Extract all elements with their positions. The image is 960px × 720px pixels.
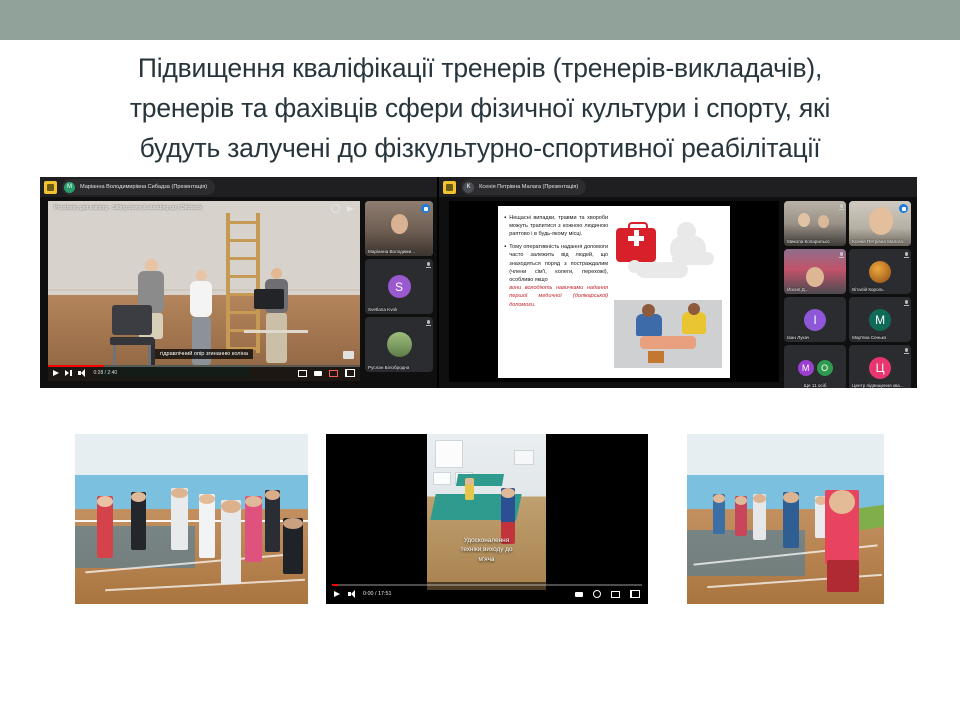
youtube-caption-text: гідравлічний опір згинанню коліна — [155, 349, 253, 359]
participant-overflow-tile[interactable]: M O Ще 11 осіб — [784, 345, 846, 388]
microphone-muted-icon — [904, 348, 908, 354]
page-title-line-3: будуть залучені до фізкультурно-спортивн… — [48, 128, 912, 168]
page-title-line-2: тренерів та фахівців сфери фізичної куль… — [48, 88, 912, 128]
photo-player-head — [221, 500, 241, 513]
participant-face — [869, 207, 893, 235]
vc-right-topbar: K Ксенія Петрівна Малага (Презентація) — [439, 177, 917, 197]
overflow-avatars: M O — [798, 360, 833, 376]
overflow-avatar-2: O — [817, 360, 833, 376]
captions-icon[interactable] — [314, 371, 322, 376]
participant-initial-avatar: І — [804, 309, 826, 331]
slide-text-column: ▪ Нещасні випадки, травми та хвороби мож… — [504, 214, 608, 309]
video-caption-line-1: Удосконалення — [427, 536, 546, 546]
rescuer-blue-figure — [636, 314, 662, 336]
youtube-right-controls[interactable] — [298, 369, 355, 377]
video-right-controls[interactable] — [575, 590, 640, 598]
shared-slide-page: ▪ Нещасні випадки, травми та хвороби мож… — [498, 206, 730, 378]
miniplayer-icon[interactable] — [329, 370, 338, 377]
microphone-muted-icon — [426, 262, 430, 268]
youtube-watermark-icon — [343, 351, 354, 359]
photo-player — [735, 496, 747, 536]
photo-player-head — [783, 492, 799, 503]
photo-player-head — [713, 494, 725, 503]
video-caption-line-2: техніки виходу до — [427, 545, 546, 555]
video-caption: Удосконалення техніки виходу до м'яча — [427, 536, 546, 565]
vc-right-presenter-chip: K Ксенія Петрівна Малага (Презентація) — [461, 179, 586, 195]
autoplay-icon[interactable] — [298, 370, 307, 377]
slide-bullet-text: Нещасні випадки, травми та хвороби можут… — [509, 214, 608, 239]
photo-player — [97, 496, 113, 558]
participant-name: Svetlana Kvok — [368, 307, 397, 312]
photo-player — [753, 494, 766, 540]
video-conference-screenshot: M Маріанна Володимирівна Сибадза (Презен… — [40, 177, 917, 388]
photo-player — [199, 494, 215, 558]
participant-tile[interactable]: Йосип Д... — [784, 249, 846, 294]
table-tennis-video-player[interactable]: Удосконалення техніки виходу до м'яча 0:… — [326, 434, 648, 604]
video-progress-bar[interactable] — [332, 584, 642, 586]
participant-tile[interactable]: Віталій Король — [849, 249, 911, 294]
video-laptop — [254, 289, 284, 309]
participant-face — [798, 213, 810, 227]
participant-name: Микола Копарильос — [787, 239, 830, 244]
microphone-muted-icon — [839, 252, 843, 258]
participant-initial-avatar: S — [388, 275, 411, 298]
volume-icon[interactable] — [348, 590, 355, 598]
photo-player — [265, 490, 280, 552]
video-person-assistant — [263, 268, 289, 363]
participant-name: Віталій Король — [852, 287, 884, 292]
bullet-dot-icon: ▪ — [504, 214, 506, 239]
photo-player-head — [97, 496, 113, 507]
photo-player — [783, 492, 799, 548]
presentation-app-icon — [44, 181, 57, 194]
youtube-timestamp: 0:28 / 2:40 — [94, 370, 118, 376]
participant-name: Йосип Д... — [787, 287, 808, 292]
photo-player-head — [753, 494, 766, 503]
youtube-progress-bar[interactable] — [48, 365, 360, 367]
presenter-avatar: M — [64, 182, 75, 193]
microphone-muted-icon — [426, 320, 430, 326]
participant-initial-avatar: M — [869, 309, 891, 331]
rescue-kit-box — [648, 351, 664, 363]
participant-face — [391, 214, 408, 234]
slide-bullet: ▪ Нещасні випадки, травми та хвороби мож… — [504, 214, 608, 239]
photo-player — [713, 494, 725, 534]
photo-player — [283, 518, 303, 574]
volleyball-gym-photo — [75, 434, 308, 604]
rescuer-blue-head — [642, 304, 655, 317]
participant-name: Центр підвищення ква... — [852, 383, 904, 388]
first-aid-kit-handle-icon — [628, 222, 648, 231]
photo-player-head — [245, 496, 262, 507]
gym-window — [433, 472, 451, 485]
video-left-controls[interactable]: 0:00 / 17:51 — [334, 590, 391, 598]
basketball-hoop-icon — [514, 450, 534, 465]
presenter-avatar: K — [463, 182, 474, 193]
captions-icon[interactable] — [575, 592, 583, 597]
microphone-muted-icon — [839, 204, 843, 210]
participant-overflow-label: Ще 11 осіб — [804, 383, 827, 388]
participant-tile[interactable]: Маріанна Володими... — [365, 201, 433, 256]
slide-bullet-text-wrap: Тому оперативність надання допомоги част… — [509, 243, 608, 309]
presenter-name: Маріанна Володимирівна Сибадза (Презента… — [80, 184, 207, 190]
participant-name: Маріанна Володими... — [368, 249, 415, 254]
page-title-line-1: Підвищення кваліфікації тренерів (тренер… — [48, 48, 912, 88]
photo-player-head — [199, 494, 215, 504]
fullscreen-icon[interactable] — [345, 369, 355, 377]
photo-player-head — [171, 488, 188, 498]
participant-initial-avatar: Ц — [869, 357, 891, 379]
participant-name: Іван Лукач — [787, 335, 809, 340]
first-aid-kit-icon — [616, 228, 656, 262]
participant-tile[interactable]: S Svetlana Kvok — [365, 259, 433, 314]
watch-later-icon[interactable] — [331, 204, 340, 213]
participant-tile[interactable]: M Мар'яна Сенько — [849, 297, 911, 342]
photo-player-foreground — [825, 490, 859, 564]
participant-name: Руслан Білобродна — [368, 365, 409, 370]
header-accent-band — [0, 0, 960, 40]
vc-left-topbar: M Маріанна Володимирівна Сибадза (Презен… — [40, 177, 437, 197]
photo-player — [171, 488, 188, 550]
participant-name: Ксенія Петрівна Малага — [852, 239, 903, 244]
overflow-avatar-1: M — [798, 360, 814, 376]
photo-player-foreground-shorts — [827, 560, 859, 592]
participant-tile[interactable]: Ц Центр підвищення ква... — [849, 345, 911, 388]
youtube-top-actions[interactable] — [331, 204, 354, 213]
video-control-bar[interactable]: 0:00 / 17:51 — [326, 582, 648, 604]
next-track-icon[interactable] — [65, 370, 72, 376]
participant-name: Мар'яна Сенько — [852, 335, 886, 340]
vc-right-pane: K Ксенія Петрівна Малага (Презентація) ▪… — [439, 177, 917, 388]
miniplayer-icon[interactable] — [611, 591, 620, 598]
rescuer-yellow-figure — [682, 312, 706, 334]
photo-player-head — [735, 496, 747, 505]
photo-player-head — [465, 478, 474, 485]
video-timestamp: 0:00 / 17:51 — [363, 591, 391, 597]
gym-training-photo — [687, 434, 884, 604]
vc-left-pane: M Маріанна Володимирівна Сибадза (Презен… — [40, 177, 439, 388]
participant-tile[interactable]: Ксенія Петрівна Малага — [849, 201, 911, 246]
presentation-app-icon — [443, 181, 456, 194]
photo-player — [221, 500, 241, 584]
youtube-left-controls[interactable]: 0:28 / 2:40 — [53, 369, 117, 377]
photo-player-head — [265, 490, 280, 500]
video-chair — [110, 305, 154, 367]
participant-camera-feed — [387, 332, 412, 357]
participant-tile[interactable]: І Іван Лукач — [784, 297, 846, 342]
vc-right-participant-grid[interactable]: Микола Копарильос Ксенія Петрівна Малага… — [784, 201, 912, 388]
shared-youtube-player[interactable]: Prosthetic gait training - Sitting down … — [48, 201, 360, 381]
volume-icon[interactable] — [78, 369, 85, 377]
microphone-muted-icon — [904, 252, 908, 258]
table-tennis-table-far — [456, 474, 504, 486]
pin-icon[interactable] — [421, 204, 430, 213]
participant-face — [806, 267, 824, 287]
photo-court-line — [105, 579, 305, 591]
slide-bullet-emphasis: вони володіють навичками надання першої … — [509, 284, 608, 309]
rescuer-yellow-head — [688, 303, 700, 315]
page-title: Підвищення кваліфікації тренерів (тренер… — [48, 48, 912, 168]
victim-figure-legs — [672, 252, 714, 265]
participant-tile[interactable]: Руслан Білобродна — [365, 317, 433, 372]
rescue-victim-figure — [640, 336, 696, 349]
vc-left-presenter-chip: M Маріанна Володимирівна Сибадза (Презен… — [62, 179, 215, 195]
gym-window — [435, 440, 463, 468]
photo-player — [245, 496, 262, 562]
photo-player-head — [501, 488, 515, 498]
photo-player — [131, 492, 146, 550]
photo-player-head — [131, 492, 146, 502]
table-tennis-video-frame: Удосконалення техніки виходу до м'яча — [427, 434, 546, 590]
video-table — [244, 330, 308, 333]
play-icon[interactable] — [334, 591, 340, 597]
photo-player-head — [283, 518, 303, 529]
photo-player — [465, 478, 474, 500]
video-caption-line-3: м'яча — [427, 555, 546, 565]
fullscreen-icon[interactable] — [630, 590, 640, 598]
slide-bullet-text: Тому оперативність надання допомоги част… — [509, 244, 608, 283]
settings-gear-icon[interactable] — [593, 590, 601, 598]
photo-player-head — [829, 490, 855, 514]
youtube-control-bar[interactable]: 0:28 / 2:40 — [48, 365, 360, 381]
participant-tile[interactable]: Микола Копарильос — [784, 201, 846, 246]
presenter-name: Ксенія Петрівна Малага (Презентація) — [479, 184, 578, 190]
vc-left-participant-rail[interactable]: Маріанна Володими... S Svetlana Kvok Рус… — [365, 201, 433, 372]
slide-bullet: ▪ Тому оперативність надання допомоги ча… — [504, 243, 608, 309]
bullet-dot-icon: ▪ — [504, 243, 506, 309]
youtube-video-title: Prosthetic gait training - Sitting down … — [54, 205, 202, 211]
shared-slide-viewport[interactable]: ▪ Нещасні випадки, травми та хвороби мож… — [449, 201, 779, 382]
microphone-muted-icon — [904, 300, 908, 306]
first-aid-illustration — [614, 216, 722, 288]
participant-camera-feed — [869, 261, 891, 283]
rescue-illustration — [614, 300, 722, 368]
play-icon[interactable] — [53, 370, 59, 376]
share-icon[interactable] — [347, 206, 354, 212]
